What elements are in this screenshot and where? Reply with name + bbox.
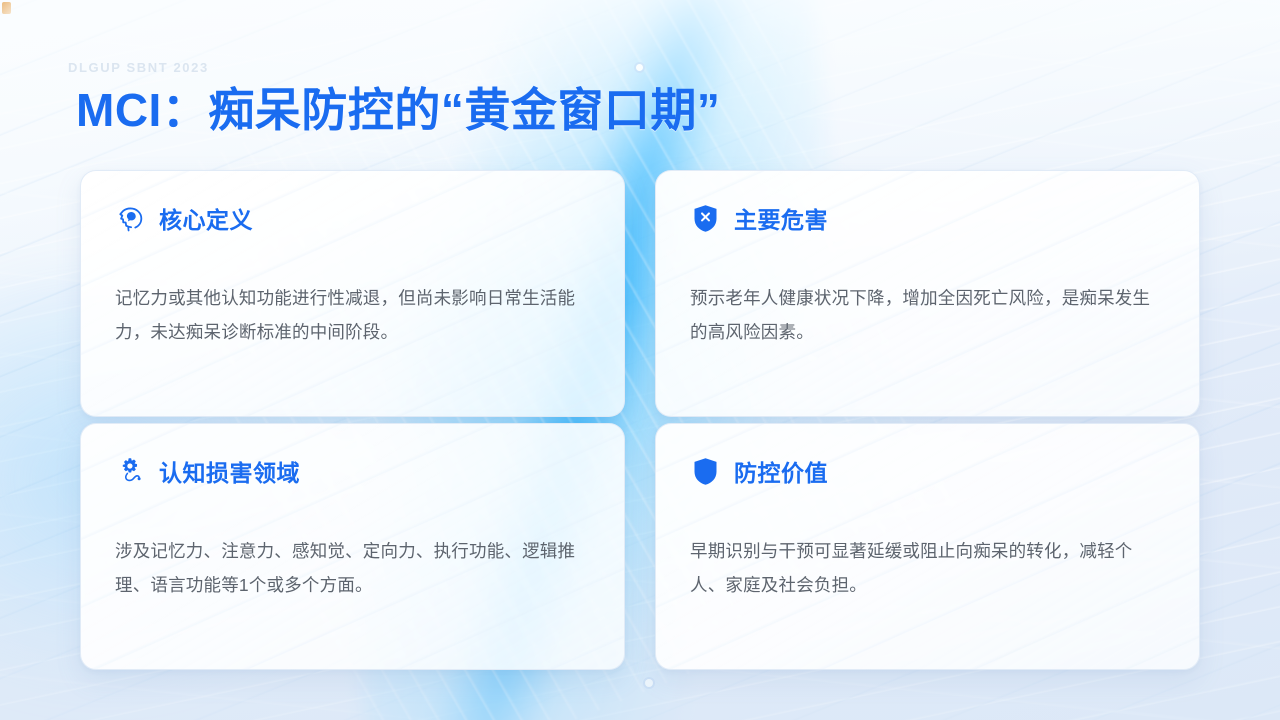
card-title: 核心定义 <box>159 201 253 235</box>
card-body-text: 预示老年人健康状况下降，增加全因死亡风险，是痴呆发生的高风险因素。 <box>690 281 1165 349</box>
card-body-text: 涉及记忆力、注意力、感知觉、定向力、执行功能、逻辑推理、语言功能等1个或多个方面… <box>115 534 590 602</box>
corner-artifact <box>2 2 11 14</box>
card-title: 主要危害 <box>734 201 828 235</box>
card-grid: 核心定义 记忆力或其他认知功能进行性减退，但尚未影响日常生活能力，未达痴呆诊断标… <box>80 170 1200 670</box>
card-body-text: 早期识别与干预可显著延缓或阻止向痴呆的转化，减轻个人、家庭及社会负担。 <box>690 534 1165 602</box>
card-header: 主要危害 <box>690 201 1165 235</box>
gear-stethoscope-icon <box>115 456 145 486</box>
slide-canvas: DLGUP SBNT 2023 MCI：痴呆防控的“黄金窗口期” 核心定义 记 <box>0 0 1280 720</box>
card-core-definition: 核心定义 记忆力或其他认知功能进行性减退，但尚未影响日常生活能力，未达痴呆诊断标… <box>80 170 625 417</box>
page-title: MCI：痴呆防控的“黄金窗口期” <box>76 74 720 140</box>
card-title: 认知损害领域 <box>159 454 300 488</box>
watermark-text: DLGUP SBNT 2023 <box>68 60 209 75</box>
card-header: 核心定义 <box>115 201 590 235</box>
card-cognitive-domains: 认知损害领域 涉及记忆力、注意力、感知觉、定向力、执行功能、逻辑推理、语言功能等… <box>80 423 625 670</box>
shield-x-icon <box>690 203 720 233</box>
top-dot-marker <box>636 64 643 71</box>
card-main-harms: 主要危害 预示老年人健康状况下降，增加全因死亡风险，是痴呆发生的高风险因素。 <box>655 170 1200 417</box>
card-body-text: 记忆力或其他认知功能进行性减退，但尚未影响日常生活能力，未达痴呆诊断标准的中间阶… <box>115 281 590 349</box>
bottom-dot-marker <box>645 679 653 687</box>
card-prevention-value: 防控价值 早期识别与干预可显著延缓或阻止向痴呆的转化，减轻个人、家庭及社会负担。 <box>655 423 1200 670</box>
card-header: 防控价值 <box>690 454 1165 488</box>
card-title: 防控价值 <box>734 454 828 488</box>
head-brain-icon <box>115 203 145 233</box>
card-header: 认知损害领域 <box>115 454 590 488</box>
shield-icon <box>690 456 720 486</box>
